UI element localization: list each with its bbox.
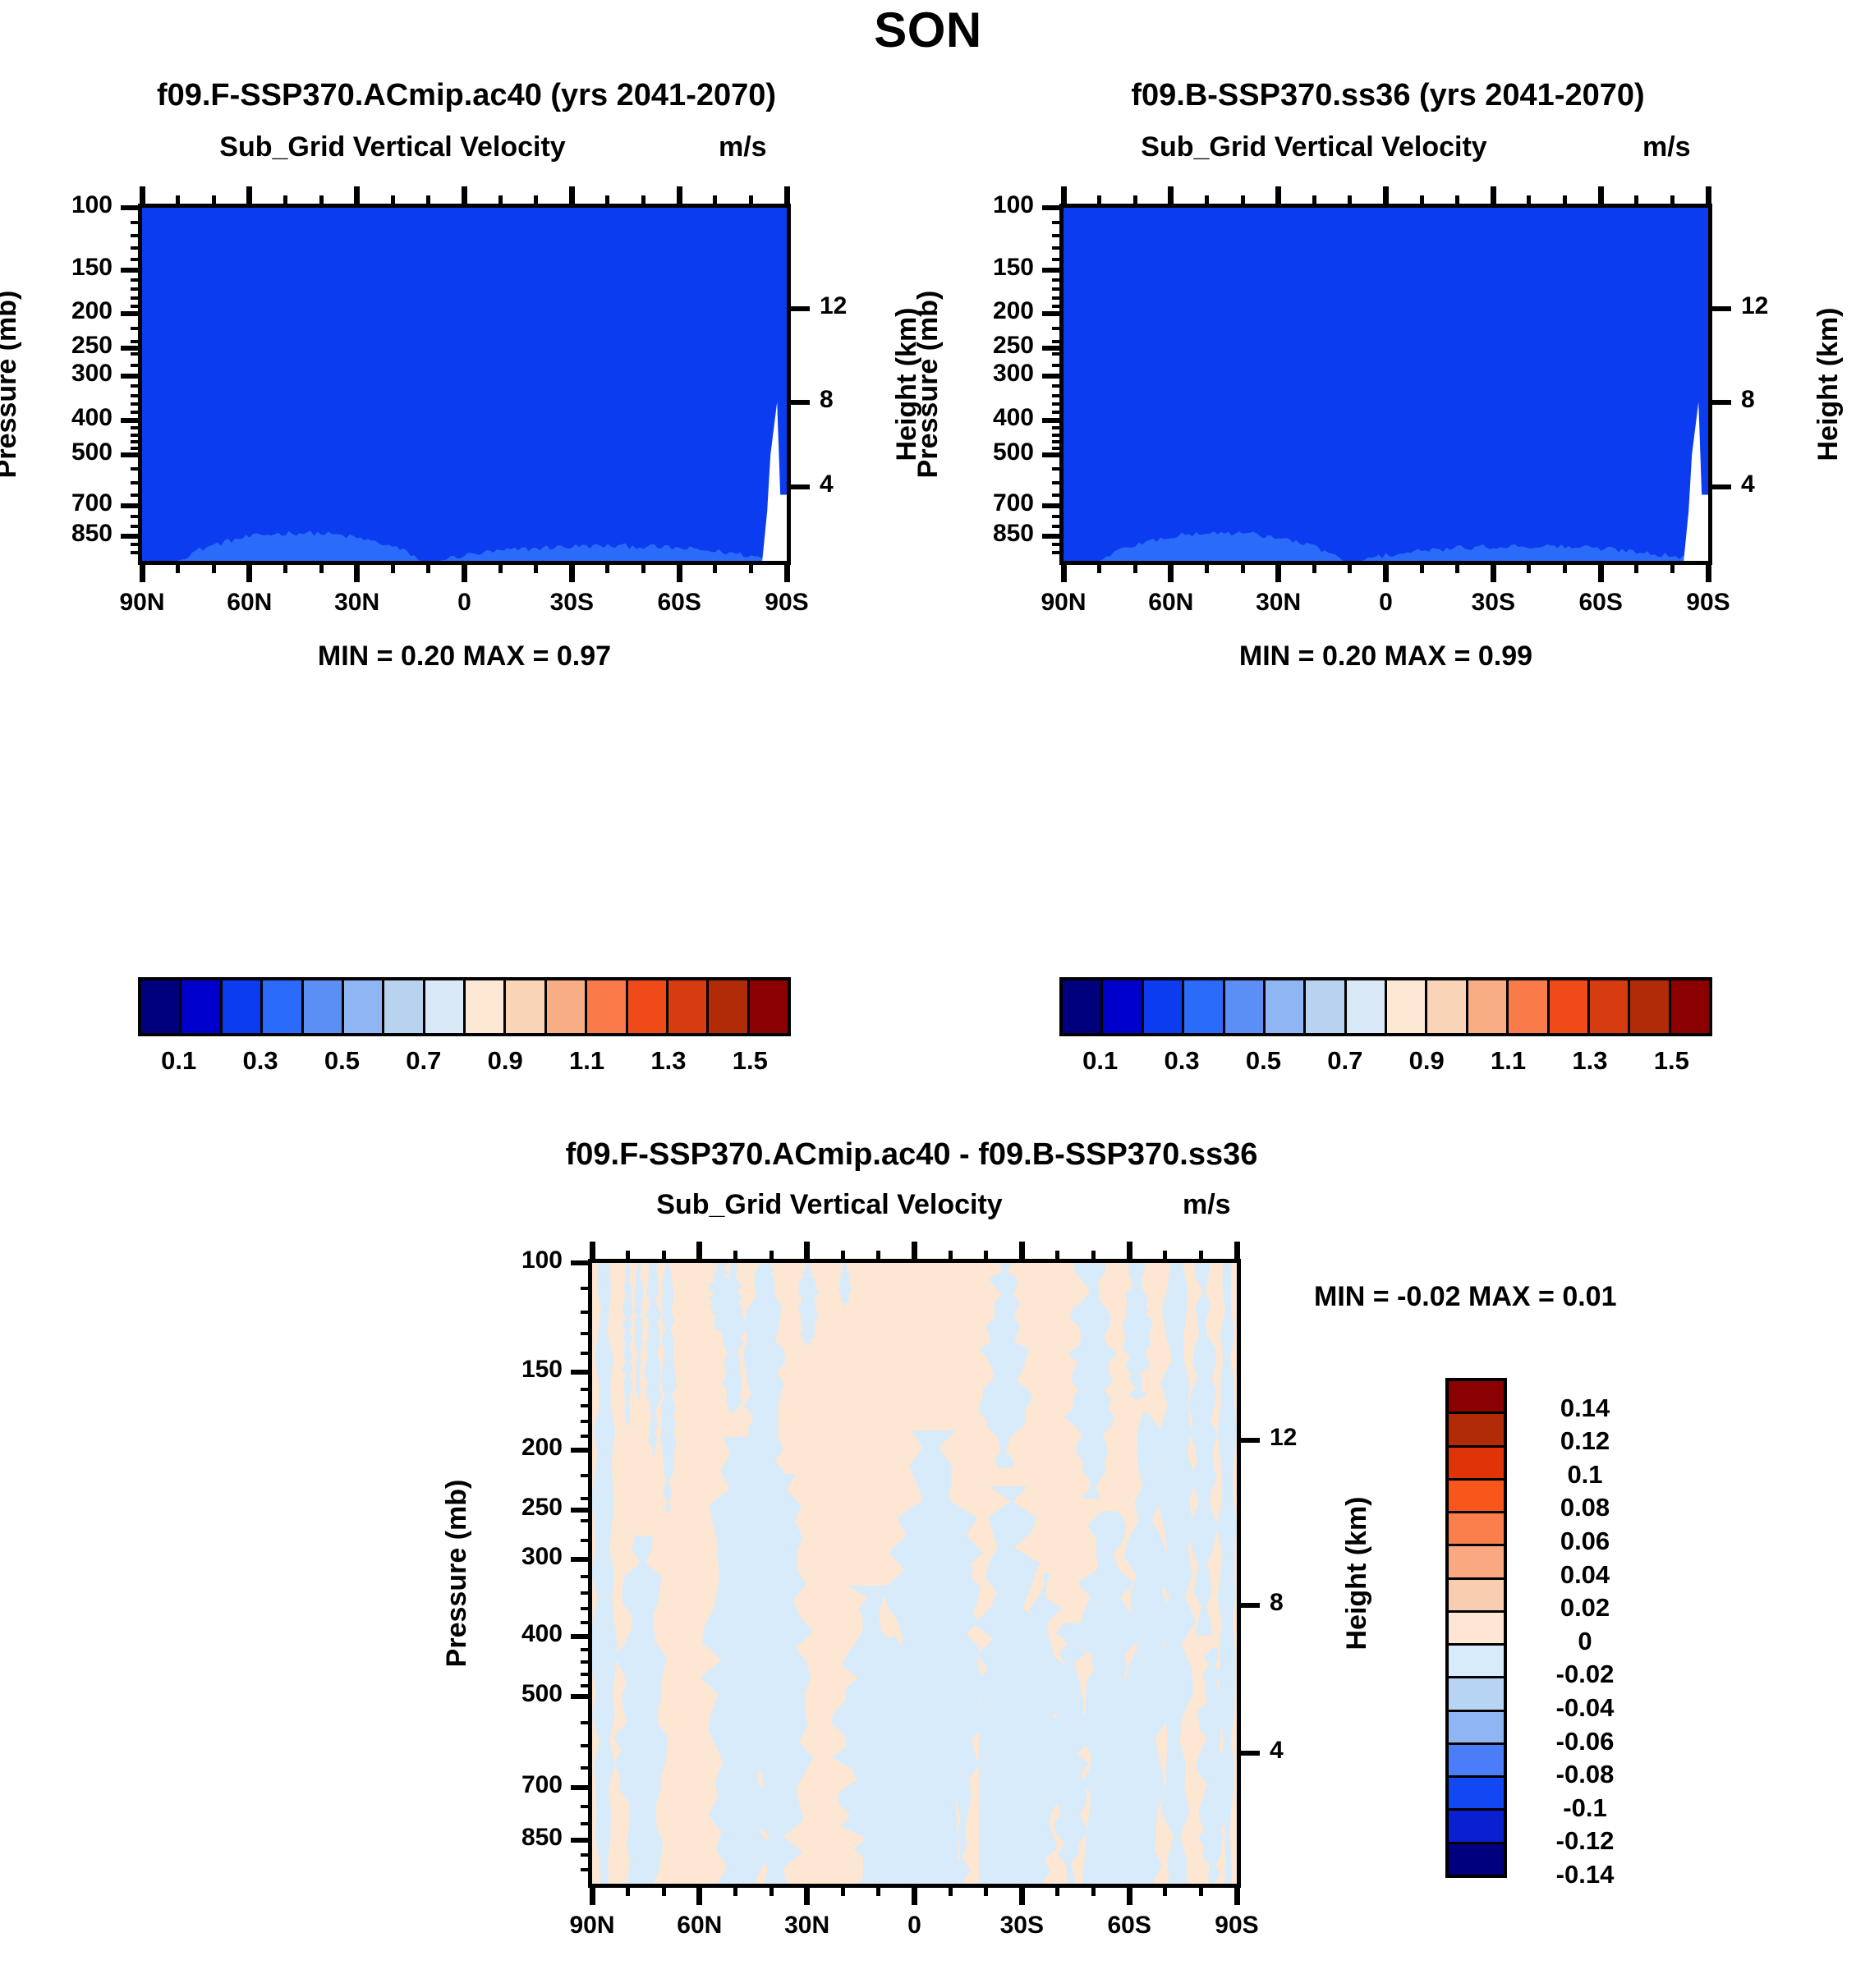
colorbar-tick-label: 1.5 bbox=[1622, 1046, 1720, 1076]
colorbar-swatch bbox=[1449, 1546, 1504, 1579]
colorbar-swatch bbox=[1449, 1381, 1504, 1414]
colorbar-tick-label: -0.14 bbox=[1523, 1860, 1647, 1889]
colorbar-swatch bbox=[1550, 980, 1590, 1033]
x-tick-label: 90S bbox=[1651, 589, 1766, 617]
colorbar-difference bbox=[1445, 1378, 1507, 1878]
field-title-top-left: Sub_Grid Vertical Velocity bbox=[138, 131, 647, 163]
y-right-tick-label: 4 bbox=[1741, 471, 1755, 498]
colorbar-swatch bbox=[1266, 980, 1306, 1033]
colorbar-swatch bbox=[141, 980, 181, 1033]
colorbar-swatch bbox=[750, 980, 788, 1033]
colorbar-swatch bbox=[1449, 1712, 1504, 1745]
colorbar-tick-label: 1.5 bbox=[701, 1046, 799, 1076]
colorbar-swatch bbox=[1225, 980, 1266, 1033]
panel-title-difference: f09.F-SSP370.ACmip.ac40 - f09.B-SSP370.s… bbox=[460, 1137, 1363, 1173]
y-tick-label: 700 bbox=[0, 1771, 563, 1799]
colorbar-swatch bbox=[425, 980, 466, 1033]
near-surface-band bbox=[1064, 208, 1708, 561]
colorbar-tick-label: -0.04 bbox=[1523, 1693, 1647, 1723]
y-tick-label: 500 bbox=[0, 1680, 563, 1708]
y-tick-label: 150 bbox=[0, 254, 1034, 282]
x-tick-label: 30N bbox=[750, 1912, 865, 1940]
x-tick-label: 90S bbox=[729, 589, 844, 617]
y-tick-label: 250 bbox=[0, 1494, 563, 1522]
y-tick-label: 400 bbox=[0, 1620, 563, 1648]
colorbar-swatch bbox=[1449, 1811, 1504, 1843]
colorbar-swatch bbox=[1103, 980, 1143, 1033]
y-tick-label: 300 bbox=[0, 1543, 563, 1571]
y-tick-label: 850 bbox=[0, 520, 1034, 548]
y-tick-label: 500 bbox=[0, 438, 1034, 466]
units-label-difference: m/s bbox=[1183, 1189, 1231, 1221]
y-tick-label: 700 bbox=[0, 489, 1034, 517]
contour-field-difference bbox=[592, 1263, 1237, 1884]
x-tick-label: 60S bbox=[1543, 589, 1658, 617]
colorbar-swatch bbox=[1630, 980, 1670, 1033]
colorbar-swatch bbox=[1509, 980, 1549, 1033]
y-tick-label: 200 bbox=[0, 297, 1034, 325]
colorbar-swatch bbox=[1184, 980, 1224, 1033]
colorbar-swatch bbox=[1671, 980, 1709, 1033]
colorbar-swatch bbox=[506, 980, 546, 1033]
colorbar-swatch bbox=[1449, 1481, 1504, 1513]
colorbar-swatch bbox=[1387, 980, 1427, 1033]
colorbar-swatch bbox=[1590, 980, 1630, 1033]
minmax-top-left: MIN = 0.20 MAX = 0.97 bbox=[138, 640, 791, 673]
colorbar-swatch bbox=[223, 980, 263, 1033]
colorbar-swatch bbox=[1427, 980, 1468, 1033]
colorbar-swatch bbox=[1449, 1778, 1504, 1811]
y-tick-label: 250 bbox=[0, 332, 1034, 360]
x-tick-label: 60S bbox=[622, 589, 737, 617]
colorbar-tick-label: 0.14 bbox=[1523, 1393, 1647, 1423]
x-tick-label: 90N bbox=[1006, 589, 1121, 617]
units-label-top-left: m/s bbox=[719, 131, 767, 163]
terrain-mask-antarctica bbox=[1064, 208, 1708, 561]
colorbar-swatch bbox=[1449, 1414, 1504, 1447]
y-tick-label: 850 bbox=[0, 1824, 563, 1852]
colorbar-swatch bbox=[587, 980, 627, 1033]
colorbar-labels-top-left: 0.10.30.50.70.91.11.31.5 bbox=[138, 1046, 791, 1082]
colorbar-tick-label: 0.08 bbox=[1523, 1493, 1647, 1522]
panel-title-top-left: f09.F-SSP370.ACmip.ac40 (yrs 2041-2070) bbox=[138, 78, 795, 113]
colorbar-swatch bbox=[1449, 1580, 1504, 1613]
colorbar-tick-label: -0.12 bbox=[1523, 1826, 1647, 1856]
colorbar-swatch bbox=[1449, 1613, 1504, 1646]
colorbar-swatch bbox=[1449, 1646, 1504, 1678]
x-tick-label: 30S bbox=[1436, 589, 1550, 617]
y-tick-label: 100 bbox=[0, 1247, 563, 1274]
colorbar-tick-label: -0.02 bbox=[1523, 1660, 1647, 1689]
colorbar-swatch bbox=[181, 980, 222, 1033]
colorbar-swatch bbox=[1347, 980, 1387, 1033]
colorbar-swatch bbox=[709, 980, 749, 1033]
colorbar-tick-label: 0 bbox=[1523, 1627, 1647, 1656]
colorbar-swatch bbox=[1468, 980, 1509, 1033]
y-right-axis-label-top-right: Height (km) bbox=[1812, 308, 1845, 461]
colorbar-tick-label: -0.08 bbox=[1523, 1760, 1647, 1789]
colorbar-swatch bbox=[1449, 1844, 1504, 1875]
x-tick-label: 30N bbox=[300, 589, 415, 617]
colorbar-tick-label: -0.06 bbox=[1523, 1727, 1647, 1756]
y-tick-label: 400 bbox=[0, 404, 1034, 432]
y-tick-label: 300 bbox=[0, 360, 1034, 388]
colorbar-swatch bbox=[304, 980, 344, 1033]
colorbar-swatch bbox=[344, 980, 384, 1033]
x-tick-label: 0 bbox=[857, 1912, 972, 1940]
y-right-tick-label: 4 bbox=[1270, 1737, 1284, 1765]
colorbar-swatch bbox=[384, 980, 425, 1033]
y-axis-label-difference: Pressure (mb) bbox=[441, 1480, 473, 1668]
colorbar-swatch bbox=[263, 980, 303, 1033]
y-axis-label-top-right: Pressure (mb) bbox=[912, 291, 944, 479]
colorbar-labels-difference: 0.140.120.10.080.060.040.020-0.02-0.04-0… bbox=[1523, 1378, 1712, 1878]
minmax-top-right: MIN = 0.20 MAX = 0.99 bbox=[1059, 640, 1712, 673]
colorbar-swatch bbox=[1449, 1513, 1504, 1546]
y-tick-label: 100 bbox=[0, 191, 1034, 219]
x-tick-label: 0 bbox=[1329, 589, 1444, 617]
colorbar-labels-top-right: 0.10.30.50.70.91.11.31.5 bbox=[1059, 1046, 1712, 1082]
x-tick-label: 0 bbox=[407, 589, 522, 617]
x-tick-label: 60N bbox=[1114, 589, 1229, 617]
contour-field-top-right bbox=[1064, 208, 1708, 561]
y-right-tick-label: 8 bbox=[1270, 1589, 1284, 1617]
units-label-top-right: m/s bbox=[1642, 131, 1691, 163]
colorbar-tick-label: 0.12 bbox=[1523, 1426, 1647, 1456]
colorbar-swatch bbox=[1449, 1745, 1504, 1778]
colorbar-swatch bbox=[547, 980, 587, 1033]
colorbar-swatch bbox=[1063, 980, 1103, 1033]
y-right-tick-label: 12 bbox=[1741, 292, 1768, 320]
y-tick-label: 200 bbox=[0, 1434, 563, 1462]
y-right-axis-label-difference: Height (km) bbox=[1341, 1497, 1373, 1651]
colorbar-tick-label: -0.1 bbox=[1523, 1793, 1647, 1823]
field-title-difference: Sub_Grid Vertical Velocity bbox=[575, 1189, 1084, 1221]
colorbar-swatch bbox=[1144, 980, 1184, 1033]
colorbar-tick-label: 0.04 bbox=[1523, 1560, 1647, 1590]
y-right-tick-label: 12 bbox=[1270, 1424, 1297, 1452]
x-tick-label: 90N bbox=[535, 1912, 650, 1940]
x-tick-label: 30N bbox=[1221, 589, 1336, 617]
plot-area-top-right bbox=[1059, 204, 1712, 565]
panel-title-top-right: f09.B-SSP370.ss36 (yrs 2041-2070) bbox=[1059, 78, 1716, 113]
colorbar-tick-label: 0.06 bbox=[1523, 1527, 1647, 1556]
colorbar-swatch bbox=[668, 980, 709, 1033]
colorbar-top-left bbox=[138, 977, 791, 1036]
colorbar-tick-label: 0.02 bbox=[1523, 1593, 1647, 1623]
x-tick-label: 60N bbox=[642, 1912, 757, 1940]
colorbar-tick-label: 0.1 bbox=[1523, 1460, 1647, 1490]
x-tick-label: 60S bbox=[1072, 1912, 1187, 1940]
y-right-tick-label: 8 bbox=[1741, 386, 1755, 414]
colorbar-swatch bbox=[1306, 980, 1346, 1033]
x-tick-label: 30S bbox=[514, 589, 629, 617]
x-tick-label: 60N bbox=[192, 589, 307, 617]
colorbar-swatch bbox=[466, 980, 506, 1033]
colorbar-swatch bbox=[1449, 1448, 1504, 1481]
colorbar-top-right bbox=[1059, 977, 1712, 1036]
figure-suptitle: SON bbox=[0, 2, 1856, 58]
colorbar-swatch bbox=[1449, 1678, 1504, 1711]
x-tick-label: 90S bbox=[1179, 1912, 1294, 1940]
plot-area-difference bbox=[588, 1259, 1241, 1888]
minmax-difference: MIN = -0.02 MAX = 0.01 bbox=[1314, 1281, 1617, 1313]
colorbar-swatch bbox=[628, 980, 668, 1033]
x-tick-label: 30S bbox=[964, 1912, 1079, 1940]
y-tick-label: 150 bbox=[0, 1356, 563, 1384]
field-title-top-right: Sub_Grid Vertical Velocity bbox=[1059, 131, 1569, 163]
x-tick-label: 90N bbox=[85, 589, 200, 617]
